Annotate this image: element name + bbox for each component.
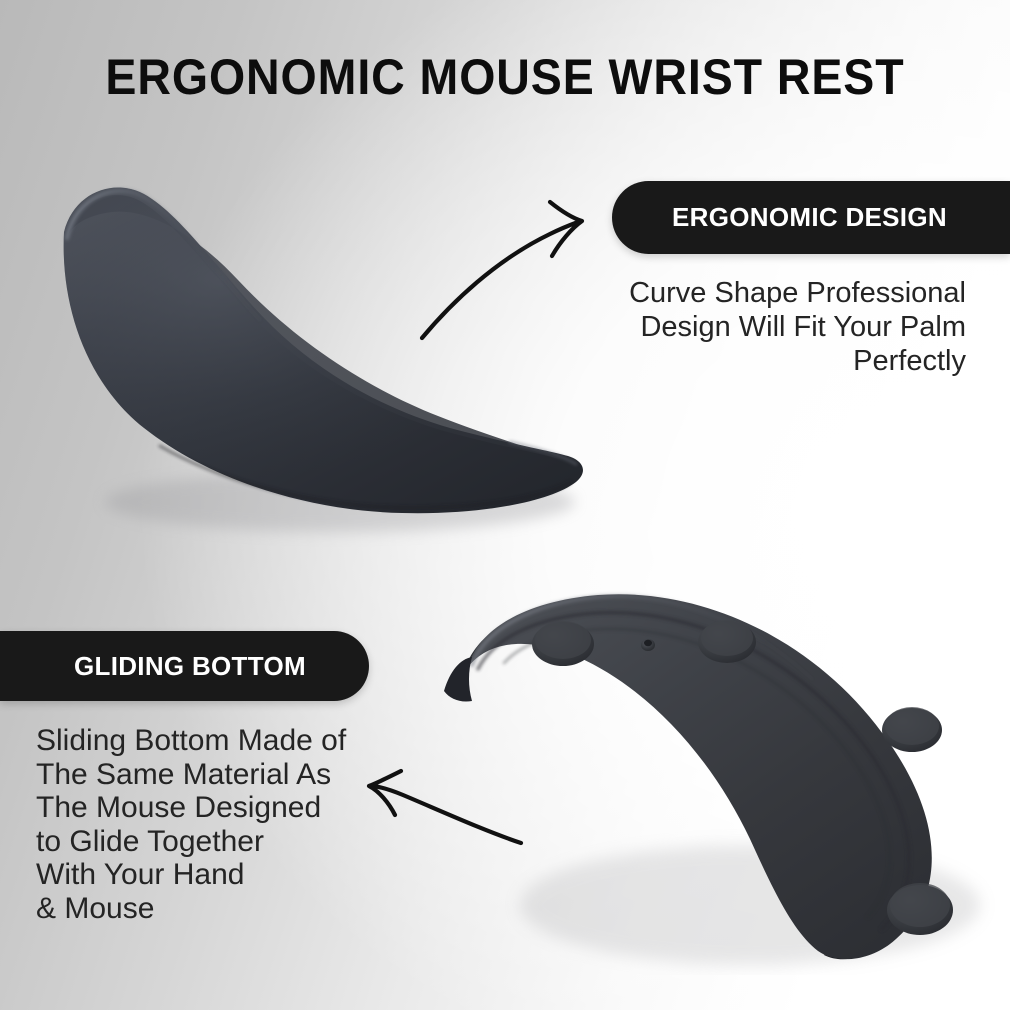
vent-hole-inner — [644, 640, 652, 646]
arrow-head — [550, 202, 582, 256]
wrist-rest-feet-group — [532, 620, 953, 935]
wrist-rest-bottom-groove-outer — [478, 613, 909, 929]
wrist-rest-bottom-sidewall — [464, 598, 921, 959]
rubber-foot-top — [890, 883, 950, 927]
rubber-foot — [882, 708, 942, 752]
rubber-foot-top — [885, 707, 939, 745]
wrist-rest-bottom-groove-inner — [504, 629, 890, 917]
infographic-poster: ERGONOMIC MOUSE WRIST REST — [0, 0, 1010, 1010]
wrist-rest-bottom-face-guide — [476, 593, 930, 941]
wrist-rest-top-view-image — [40, 150, 620, 550]
wrist-rest-top-upper-face — [68, 195, 560, 459]
feature-text-ergonomic-design: Curve Shape Professional Design Will Fit… — [546, 277, 966, 379]
vent-hole — [641, 639, 655, 651]
feature-text-gliding-bottom: Sliding Bottom Made of The Same Material… — [36, 724, 456, 926]
badge-gliding-bottom-label: GLIDING BOTTOM — [74, 651, 306, 682]
badge-gliding-bottom[interactable]: GLIDING BOTTOM — [0, 631, 369, 701]
wrist-rest-top-rim-light — [67, 191, 260, 320]
wrist-rest-top-sheen — [64, 188, 583, 514]
wrist-rest-bottom-rim-light — [472, 596, 812, 679]
rubber-foot — [887, 885, 953, 935]
wrist-rest-top-tip-highlight — [510, 442, 576, 464]
wrist-rest-bottom-body — [468, 594, 932, 959]
wrist-rest-bottom-left-tip — [444, 657, 472, 702]
badge-ergonomic-design-label: ERGONOMIC DESIGN — [672, 202, 947, 233]
rubber-foot — [532, 622, 594, 666]
wrist-rest-bottom-shadow — [520, 845, 980, 965]
rubber-foot-top — [701, 620, 753, 656]
wrist-rest-bottom-view-image — [420, 575, 1010, 975]
rubber-foot — [698, 621, 756, 663]
wrist-rest-top-lower-edge — [160, 446, 570, 508]
wrist-rest-top-body — [64, 188, 583, 514]
rubber-foot-top — [535, 621, 591, 659]
wrist-rest-top-shadow — [105, 472, 575, 532]
page-title: ERGONOMIC MOUSE WRIST REST — [35, 52, 974, 102]
badge-ergonomic-design[interactable]: ERGONOMIC DESIGN — [612, 181, 1010, 254]
